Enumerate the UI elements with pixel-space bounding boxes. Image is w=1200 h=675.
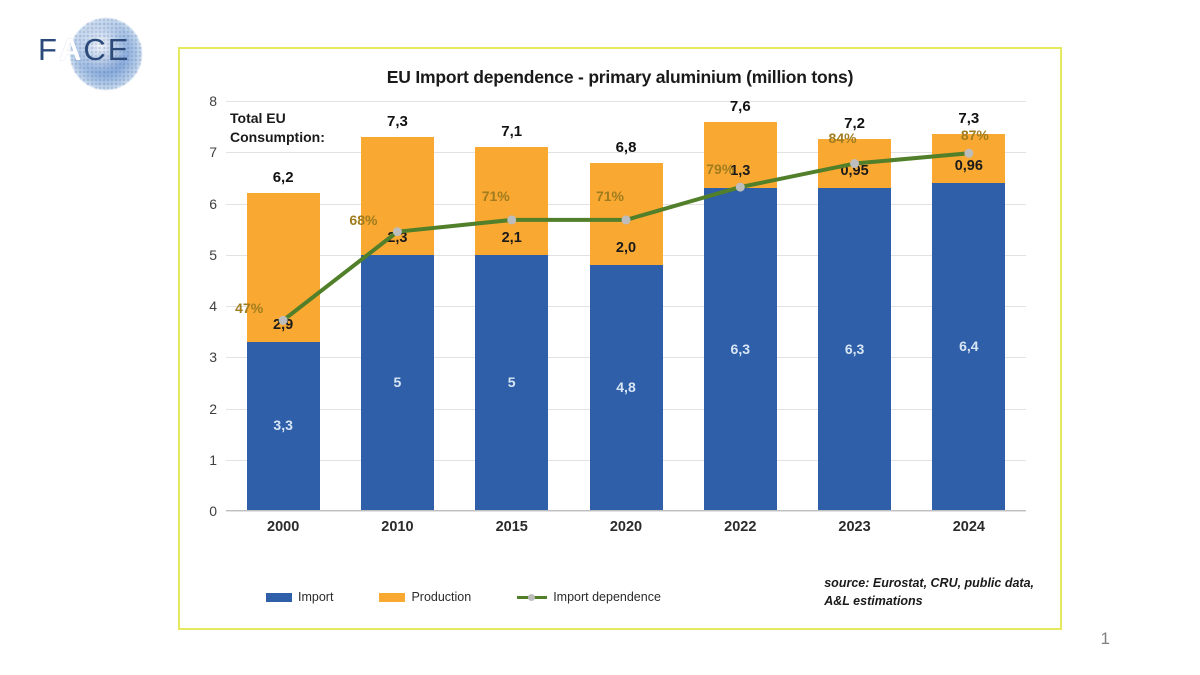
source-line-2: A&L estimations: [824, 592, 1034, 610]
x-axis-label-2010: 2010: [347, 519, 447, 535]
bar-production-value-label: 2,9: [228, 317, 338, 333]
logo-letter-a: A: [59, 32, 83, 67]
legend-line-marker-icon: [517, 593, 547, 602]
legend-label: Import dependence: [553, 590, 661, 604]
y-axis-tick: 6: [209, 196, 217, 212]
bar-total-label: 6,2: [223, 169, 343, 186]
import-dependence-pct-label: 71%: [446, 188, 546, 204]
logo-wordmark: FACE: [38, 32, 168, 68]
x-axis-label-2023: 2023: [805, 519, 905, 535]
bar-production-value-label: 0,95: [800, 163, 910, 179]
bar-total-label: 7,1: [452, 123, 572, 140]
bar-import-value-label: 5: [347, 374, 447, 390]
import-dependence-pct-label: 79%: [670, 161, 770, 177]
legend-swatch-icon: [266, 593, 292, 602]
chart-legend: ImportProductionImport dependence: [266, 590, 661, 604]
chart-title: EU Import dependence - primary aluminium…: [180, 67, 1060, 88]
total-consumption-note: Total EU Consumption:: [230, 109, 325, 147]
x-axis-labels: 2000201020152020202220232024: [226, 519, 1026, 543]
gridline: 0: [226, 511, 1026, 512]
logo-letters-ce: CE: [83, 32, 130, 67]
import-dependence-pct-label: 84%: [793, 130, 893, 146]
total-note-line2: Consumption:: [230, 128, 325, 147]
source-line-1: source: Eurostat, CRU, public data,: [824, 574, 1034, 592]
import-dependence-pct-label: 68%: [313, 212, 413, 228]
bar-total-label: 7,6: [680, 98, 800, 115]
chart-plot-area: 012345678 6,23,32,97,352,37,152,16,84,82…: [226, 101, 1026, 511]
slide-page-number: 1: [1101, 629, 1110, 649]
gridline: 8: [226, 101, 1026, 102]
y-axis-tick: 0: [209, 503, 217, 519]
bar-group-2022[interactable]: [704, 122, 777, 512]
y-axis-tick: 5: [209, 247, 217, 263]
bar-production-value-label: 2,0: [571, 240, 681, 256]
y-axis-tick: 1: [209, 452, 217, 468]
x-axis-line: [226, 510, 1026, 511]
bar-import-value-label: 3,3: [233, 417, 333, 433]
bar-group-2010[interactable]: [361, 137, 434, 511]
y-axis-tick: 3: [209, 349, 217, 365]
x-axis-label-2022: 2022: [690, 519, 790, 535]
bar-group-2000[interactable]: [247, 193, 320, 511]
source-note: source: Eurostat, CRU, public data, A&L …: [824, 574, 1034, 610]
bar-production-value-label: 0,96: [914, 158, 1024, 174]
x-axis-label-2024: 2024: [919, 519, 1019, 535]
y-axis-tick: 2: [209, 401, 217, 417]
legend-label: Import: [298, 590, 333, 604]
legend-item[interactable]: Import dependence: [517, 590, 661, 604]
x-axis-label-2020: 2020: [576, 519, 676, 535]
legend-item[interactable]: Import: [266, 590, 333, 604]
bar-group-2024[interactable]: [932, 134, 1005, 511]
bar-import-value-label: 6,3: [690, 341, 790, 357]
import-dependence-pct-label: 71%: [560, 188, 660, 204]
chart-frame: EU Import dependence - primary aluminium…: [178, 47, 1062, 630]
legend-swatch-icon: [379, 593, 405, 602]
legend-label: Production: [411, 590, 471, 604]
bar-total-label: 7,3: [337, 113, 457, 130]
bar-import-value-label: 6,3: [805, 341, 905, 357]
bar-import-value-label: 5: [462, 374, 562, 390]
face-logo: FACE: [38, 14, 168, 94]
bar-import-value-label: 4,8: [576, 379, 676, 395]
import-dependence-pct-label: 87%: [925, 127, 1025, 143]
import-dependence-pct-label: 47%: [199, 300, 299, 316]
x-axis-label-2015: 2015: [462, 519, 562, 535]
bar-group-2023[interactable]: [818, 139, 891, 511]
bar-group-2020[interactable]: [590, 163, 663, 512]
bar-production-value-label: 2,3: [342, 230, 452, 246]
legend-item[interactable]: Production: [379, 590, 471, 604]
bar-total-label: 6,8: [566, 139, 686, 156]
y-axis-tick: 7: [209, 144, 217, 160]
x-axis-label-2000: 2000: [233, 519, 333, 535]
total-note-line1: Total EU: [230, 109, 325, 128]
bar-production-value-label: 2,1: [457, 230, 567, 246]
bar-import-value-label: 6,4: [919, 338, 1019, 354]
logo-letter-f: F: [38, 32, 59, 67]
bar-total-label: 7,3: [909, 110, 1029, 127]
y-axis-tick: 8: [209, 93, 217, 109]
